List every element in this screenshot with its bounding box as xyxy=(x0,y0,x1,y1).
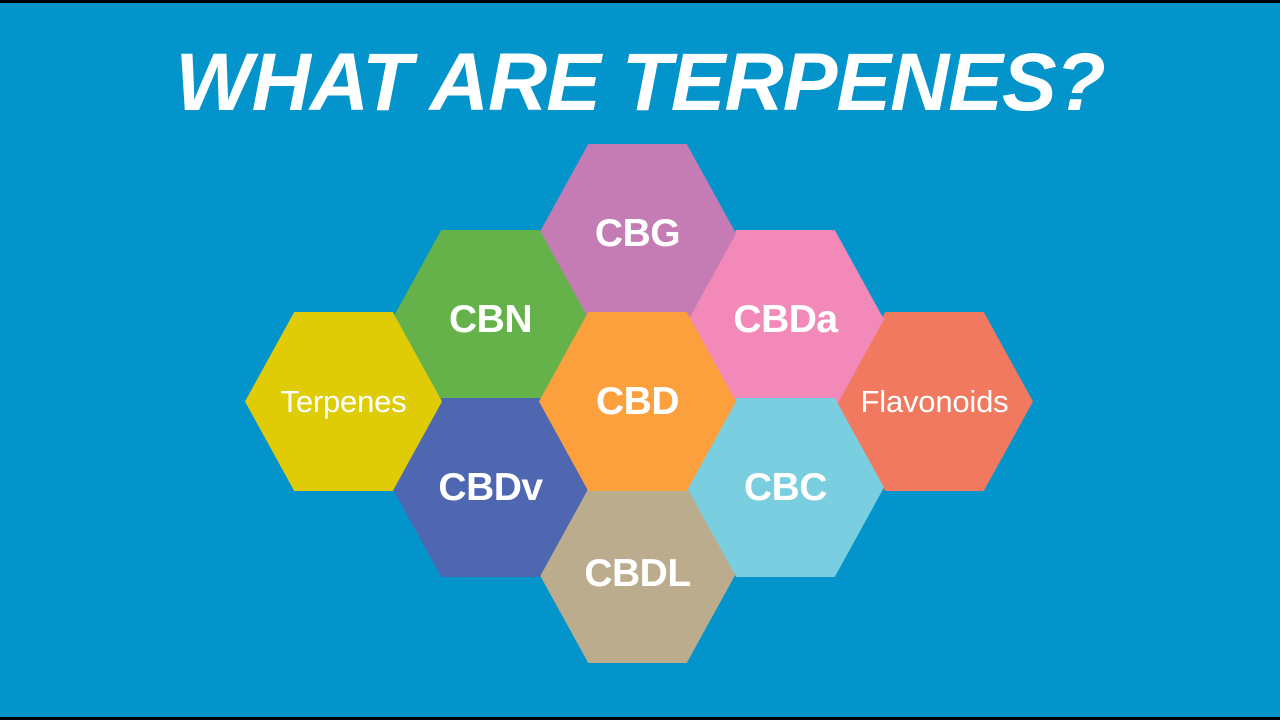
hex-label-cbg: CBG xyxy=(595,212,680,256)
hex-label-cbn: CBN xyxy=(449,298,532,342)
hex-label-cbdl: CBDL xyxy=(584,552,690,596)
page-title: WHAT ARE TERPENES? xyxy=(0,40,1280,126)
hex-label-flavonoids: Flavonoids xyxy=(861,384,1009,420)
hex-label-cbda: CBDa xyxy=(733,298,837,342)
infographic-canvas: WHAT ARE TERPENES? CBGCBNCBDaTerpenesCBD… xyxy=(0,0,1280,720)
hex-label-terpenes: Terpenes xyxy=(281,384,407,420)
top-letterbox-bar xyxy=(0,0,1280,3)
hex-label-cbd: CBD xyxy=(596,380,679,424)
hex-label-cbc: CBC xyxy=(744,466,827,510)
hex-label-cbdv: CBDv xyxy=(438,466,542,510)
